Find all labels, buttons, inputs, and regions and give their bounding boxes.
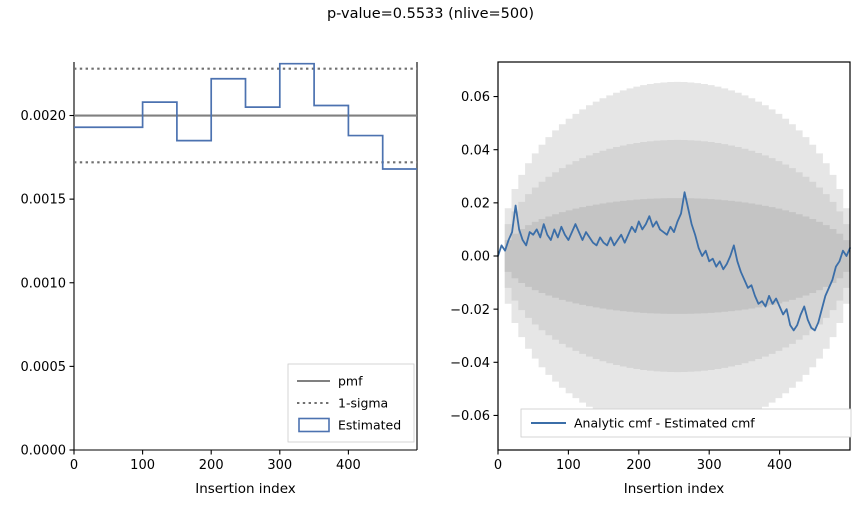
ytick-label-0-4: 0.0020 — [21, 109, 67, 124]
left-legend: pmf1-sigmaEstimated — [288, 364, 414, 442]
xtick-label-0-4: 400 — [336, 458, 361, 473]
xtick-label-0-1: 100 — [130, 458, 155, 473]
xtick-label-1-4: 400 — [767, 458, 792, 473]
matplotlib-figure: p-value=0.5533 (nlive=500) 0100200300400… — [0, 0, 861, 506]
ytick-label-1-5: 0.04 — [461, 143, 490, 158]
xtick-label-1-1: 100 — [556, 458, 581, 473]
ytick-label-0-2: 0.0010 — [21, 276, 67, 291]
xtick-label-0-3: 300 — [267, 458, 292, 473]
legend-label-1: 1-sigma — [338, 395, 388, 410]
xtick-label-1-2: 200 — [626, 458, 651, 473]
legend-label-0: pmf — [338, 373, 363, 388]
legend-label-2: Estimated — [338, 417, 401, 432]
xaxis-label-0: Insertion index — [195, 481, 296, 497]
figure-canvas: 01002003004000.00000.00050.00100.00150.0… — [0, 0, 861, 506]
ytick-label-1-2: −0.02 — [450, 303, 490, 318]
xaxis-label-1: Insertion index — [624, 481, 725, 497]
right-legend-label: Analytic cmf - Estimated cmf — [574, 416, 755, 431]
left-subplot: 01002003004000.00000.00050.00100.00150.0… — [21, 62, 418, 497]
right-subplot: 0100200300400−0.06−0.04−0.020.000.020.04… — [450, 62, 851, 497]
figure-title: p-value=0.5533 (nlive=500) — [0, 6, 861, 22]
xtick-label-1-3: 300 — [697, 458, 722, 473]
xtick-label-0-0: 0 — [70, 458, 78, 473]
ytick-label-1-4: 0.02 — [461, 196, 490, 211]
ytick-label-1-1: −0.04 — [450, 356, 490, 371]
right-legend: Analytic cmf - Estimated cmf — [521, 409, 851, 437]
ytick-label-0-0: 0.0000 — [21, 444, 67, 459]
xtick-label-1-0: 0 — [494, 458, 502, 473]
ytick-label-0-1: 0.0005 — [21, 360, 67, 375]
ytick-label-1-3: 0.00 — [461, 250, 490, 265]
ytick-label-1-0: −0.06 — [450, 409, 490, 424]
ytick-label-1-6: 0.06 — [461, 90, 490, 105]
ytick-label-0-3: 0.0015 — [21, 193, 67, 208]
xtick-label-0-2: 200 — [199, 458, 224, 473]
